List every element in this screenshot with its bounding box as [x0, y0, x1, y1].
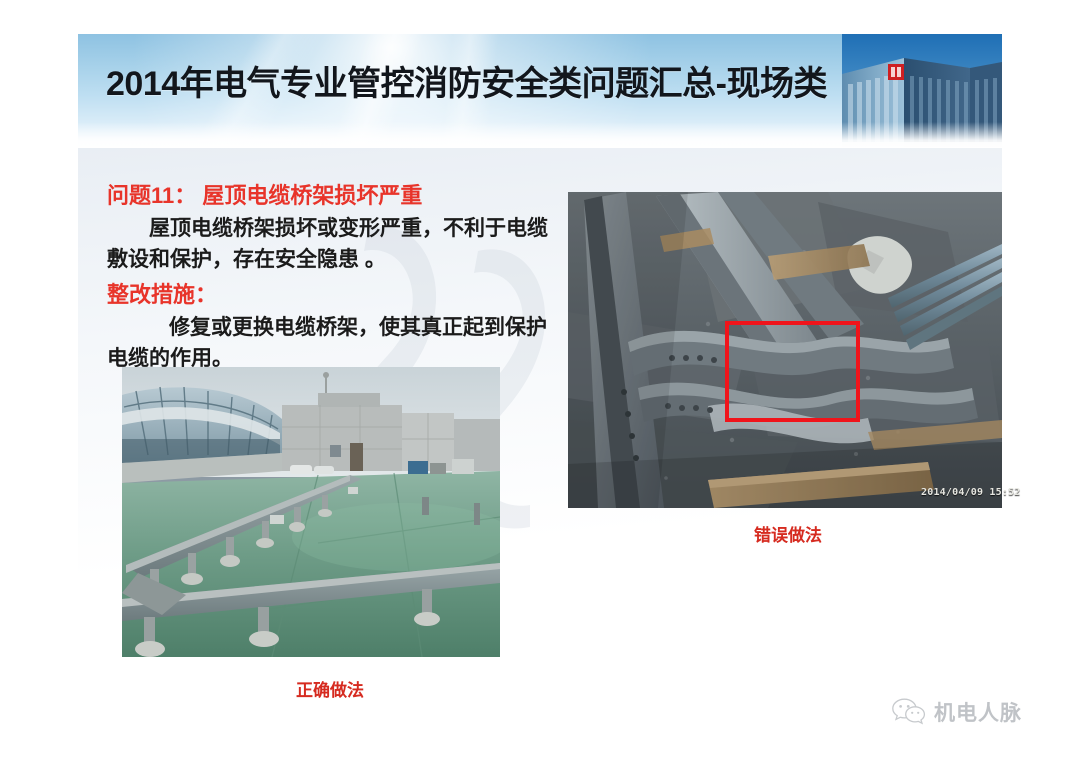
page-title: 2014年电气专业管控消防安全类问题汇总-现场类: [106, 62, 827, 106]
title-banner: 2014年电气专业管控消防安全类问题汇总-现场类: [78, 34, 1002, 148]
measure-description: 修复或更换电缆桥架，使其真正起到保护电缆的作用。: [107, 312, 555, 374]
problem-description: 屋顶电缆桥架损坏或变形严重，不利于电缆敷设和保护，存在安全隐患 。: [107, 213, 555, 275]
measure-heading: 整改措施：: [107, 279, 555, 310]
watermark: 机电人脉: [892, 697, 1022, 727]
banner-horizon-glow: [78, 122, 1002, 148]
caption-wrong-practice: 错误做法: [754, 521, 822, 546]
caption-correct-practice: 正确做法: [296, 676, 364, 701]
problem-heading: 问题11： 屋顶电缆桥架损坏严重: [107, 181, 555, 211]
photo-correct-practice: [122, 367, 500, 657]
slide-canvas: 2014年电气专业管控消防安全类问题汇总-现场类 问题11： 屋顶电缆桥架损坏严…: [0, 0, 1080, 764]
content-text-column: 问题11： 屋顶电缆桥架损坏严重 屋顶电缆桥架损坏或变形严重，不利于电缆敷设和保…: [107, 181, 555, 374]
photo-timestamp: 2014/04/09 15:52: [921, 487, 1021, 498]
watermark-label: 机电人脉: [934, 697, 1022, 727]
defect-annotation-box: [725, 321, 860, 422]
wechat-icon: [892, 697, 926, 727]
